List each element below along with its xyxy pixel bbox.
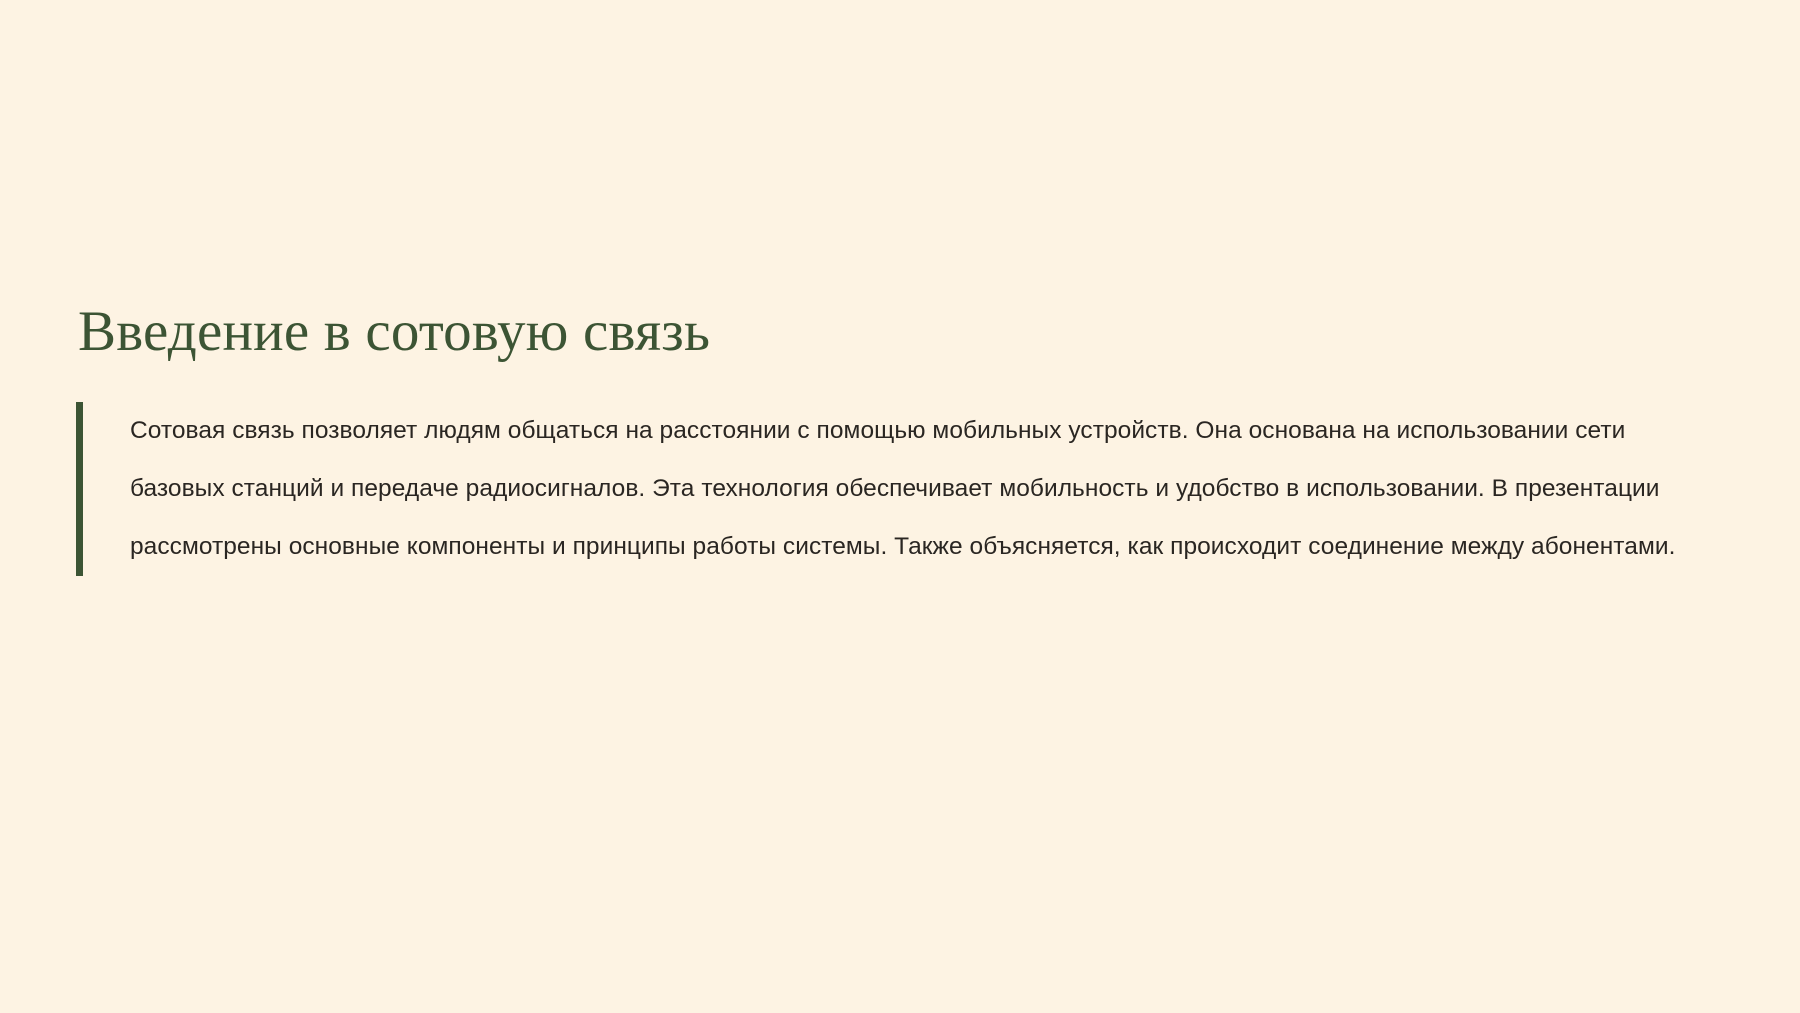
slide-canvas: Введение в сотовую связь Сотовая связь п… xyxy=(0,0,1800,1013)
body-paragraph: Сотовая связь позволяет людям общаться н… xyxy=(83,402,1725,576)
accent-bar xyxy=(76,402,83,576)
slide-content: Введение в сотовую связь Сотовая связь п… xyxy=(76,300,1736,576)
quote-block: Сотовая связь позволяет людям общаться н… xyxy=(76,402,1736,576)
page-title: Введение в сотовую связь xyxy=(78,300,1736,364)
